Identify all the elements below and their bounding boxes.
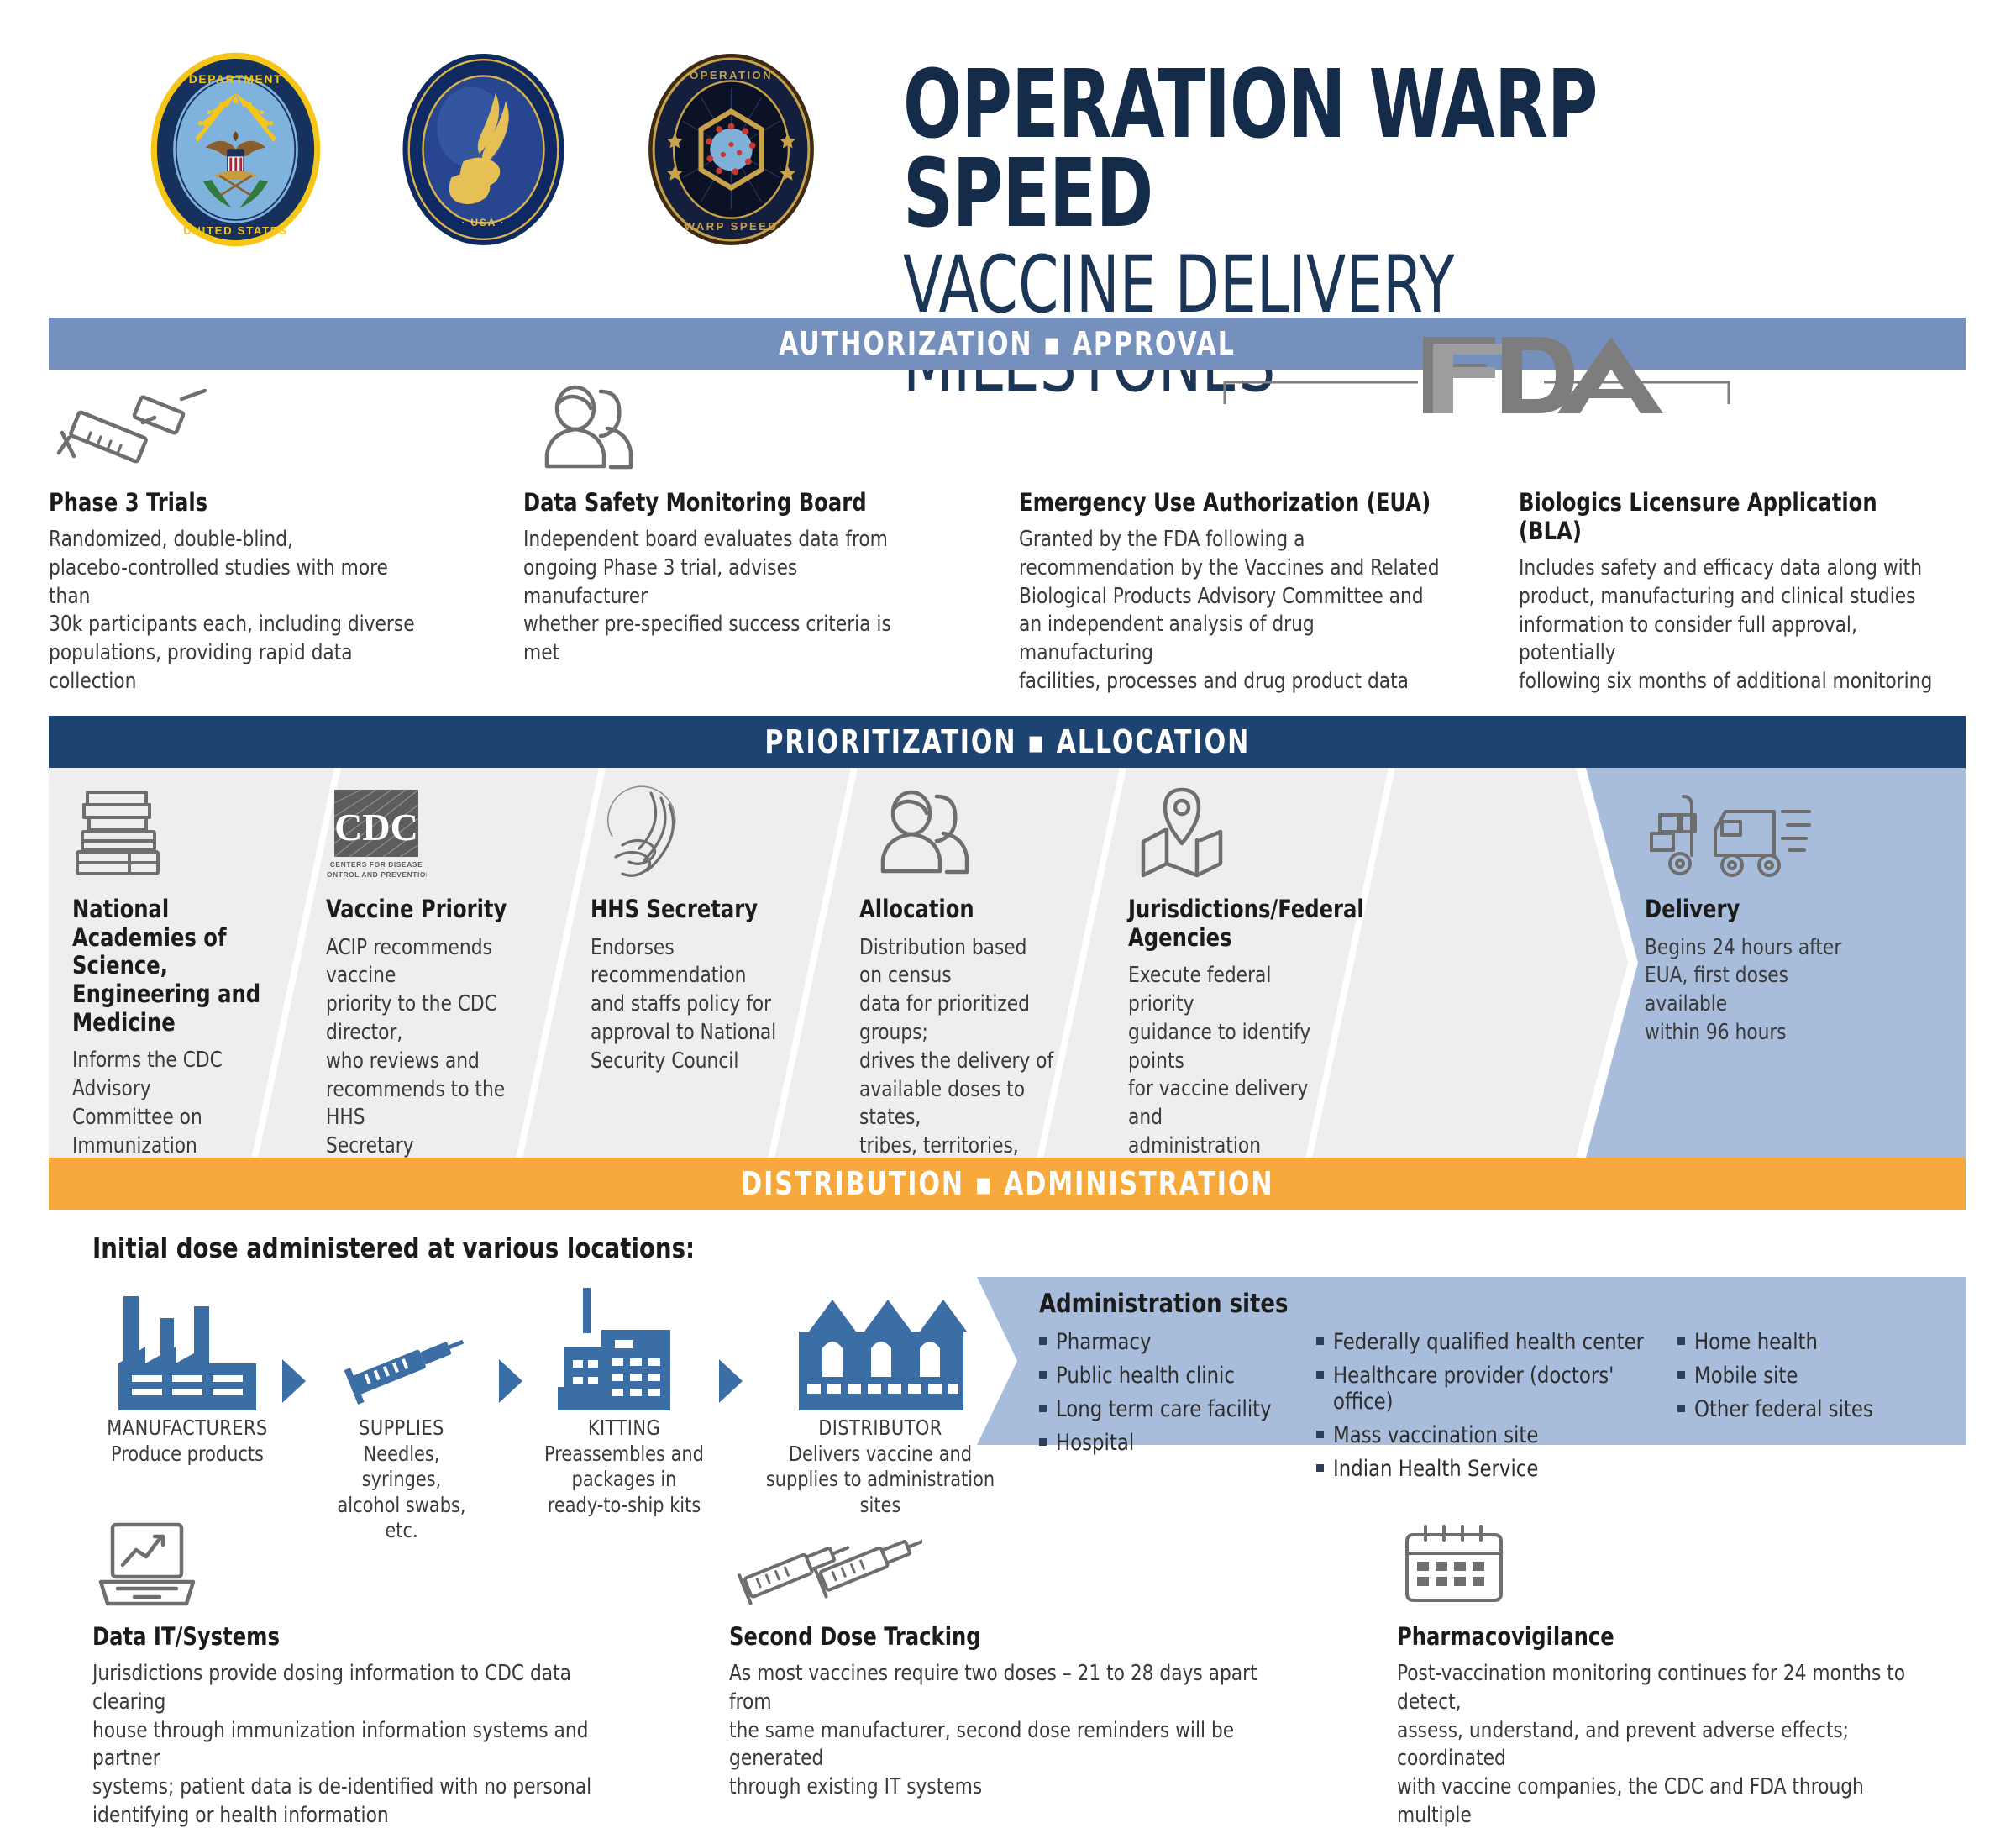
ows-seal: OPERATION WARP SPEED [620,49,843,250]
chain-caption: KITTINGPreassembles andpackages inready-… [542,1416,706,1518]
bottom-body: As most vaccines require two doses – 21 … [729,1660,1299,1802]
bottom-section: Data IT/Systems Jurisdictions provide do… [49,1516,1966,1810]
bullet-icon [1677,1405,1685,1412]
banner-distribution: DISTRIBUTION ▪ ADMINISTRATION [49,1158,1966,1210]
banner-distribution-label: DISTRIBUTION ▪ ADMINISTRATION [741,1165,1273,1202]
auth-body: Independent board evaluates data fromong… [523,526,921,668]
bullet-icon [1316,1431,1324,1438]
bullet-icon [1039,1438,1047,1446]
admin-site-item: Public health clinic [1039,1363,1316,1389]
syringe-icon [318,1280,486,1410]
admin-site-label: Healthcare provider (doctors' office) [1333,1363,1656,1415]
admin-site-item: Federally qualified health center [1316,1329,1677,1355]
admin-site-label: Mobile site [1694,1363,1798,1389]
admin-site-label: Federally qualified health center [1333,1329,1644,1355]
chevron-title: Allocation [859,896,1055,924]
chain-arrow-icon [494,1358,528,1409]
distribution-heading: Initial dose administered at various loc… [92,1232,695,1264]
svg-text:CENTERS FOR DISEASE: CENTERS FOR DISEASE [330,860,423,869]
chevron-item-vaccine-priority: CDC CENTERS FOR DISEASE CONTROL AND PREV… [326,783,536,1158]
two-people-icon [859,783,1069,884]
admin-site-label: Hospital [1056,1430,1134,1456]
chain-arrow-icon [714,1358,748,1409]
auth-title: Data Safety Monitoring Board [523,488,921,517]
admin-col-2: Federally qualified health centerHealthc… [1316,1329,1677,1489]
svg-text:WARP SPEED: WARP SPEED [685,220,779,233]
factory-icon [91,1280,284,1410]
bullet-icon [1039,1337,1047,1345]
svg-text:DEPARTMENT: DEPARTMENT [189,73,283,86]
auth-body: Randomized, double-blind,placebo-control… [49,526,423,696]
title-main: OPERATION WARP SPEED [903,60,1816,239]
bottom-item-second-dose: Second Dose Tracking As most vaccines re… [729,1516,1342,1802]
hhs-logo-icon [591,783,801,884]
svg-text:UNITED STATES: UNITED STATES [183,224,288,237]
banner-authorization-label: AUTHORIZATION ▪ APPROVAL [779,325,1236,362]
bottom-body: Post-vaccination monitoring continues fo… [1397,1660,1944,1828]
books-icon [72,783,282,884]
bullet-icon [1316,1337,1324,1345]
svg-text:OPERATION: OPERATION [690,69,773,81]
hhs-seal: · USA · [372,49,595,250]
chain-caption: DISTRIBUTORDelivers vaccine andsupplies … [764,1416,998,1518]
chevron-body: Informs the CDC AdvisoryCommittee on Imm… [72,1047,268,1158]
chain-name: DISTRIBUTOR [764,1416,998,1442]
admin-site-label: Indian Health Service [1333,1456,1538,1482]
chevron-title: HHS Secretary [591,896,786,924]
auth-title: Emergency Use Authorization (EUA) [1019,488,1441,517]
chain-caption: MANUFACTURERSProduce products [97,1416,277,1467]
laptop-chart-icon [92,1516,680,1610]
administration-sites-panel: Administration sites PharmacyPublic heal… [977,1277,1966,1445]
two-syringes-icon [729,1516,1342,1610]
auth-body: Includes safety and efficacy data along … [1519,554,1945,696]
admin-site-label: Public health clinic [1056,1363,1235,1389]
chevron-item-allocation: Allocation Distribution based on censusd… [859,783,1069,1158]
chain-arrow-icon [277,1358,311,1409]
admin-site-item: Mass vaccination site [1316,1422,1677,1448]
auth-item-dsmb: Data Safety Monitoring Board Independent… [523,382,952,668]
admin-site-label: Home health [1694,1329,1818,1355]
map-pin-icon [1128,783,1338,884]
bottom-title: Second Dose Tracking [729,1622,1299,1651]
chevron-item-nasem: National Academies ofScience, Engineerin… [72,783,282,1158]
chain-desc: Delivers vaccine andsupplies to administ… [766,1442,995,1517]
admin-site-item: Mobile site [1677,1363,1929,1389]
admin-sites-columns: PharmacyPublic health clinicLong term ca… [1039,1329,1929,1489]
bottom-title: Pharmacovigilance [1397,1622,1944,1651]
syringe-icon [49,382,452,473]
banner-prioritization-label: PRIORITIZATION ▪ ALLOCATION [764,723,1250,760]
bullet-icon [1316,1371,1324,1379]
chain-desc: Produce products [111,1442,264,1466]
admin-site-label: Pharmacy [1056,1329,1151,1355]
chain-node-kitting: KITTINGPreassembles andpackages inready-… [536,1280,712,1518]
chevron-body: Distribution based on censusdata for pri… [859,934,1055,1158]
bullet-icon [1677,1371,1685,1379]
chevron-title: National Academies ofScience, Engineerin… [72,896,268,1037]
chain-node-distributor: DISTRIBUTORDelivers vaccine andsupplies … [754,1280,1006,1518]
prioritization-section: National Academies ofScience, Engineerin… [49,768,1966,1158]
admin-site-label: Other federal sites [1694,1396,1873,1422]
admin-site-item: Hospital [1039,1430,1316,1456]
svg-text:CONTROL AND PREVENTION: CONTROL AND PREVENTION [326,870,427,879]
bullet-icon [1677,1337,1685,1345]
admin-col-1: PharmacyPublic health clinicLong term ca… [1039,1329,1316,1489]
agency-seals: DEPARTMENT UNITED STATES [124,49,843,250]
bottom-item-data-it: Data IT/Systems Jurisdictions provide do… [92,1516,680,1828]
chevron-title: Delivery [1645,896,1848,924]
supply-chain: MANUFACTURERSProduce products [91,1280,1006,1490]
auth-title: Phase 3 Trials [49,488,423,517]
chain-name: KITTING [542,1416,706,1442]
svg-text:CDC: CDC [334,806,418,848]
admin-col-3: Home healthMobile siteOther federal site… [1677,1329,1929,1489]
page-header: DEPARTMENT UNITED STATES [0,0,2016,294]
auth-title: Biologics Licensure Application (BLA) [1519,488,1945,545]
admin-site-item: Pharmacy [1039,1329,1316,1355]
bullet-icon [1039,1405,1047,1412]
chevron-item-hhs-secretary: HHS Secretary Endorses recommendationand… [591,783,801,1076]
admin-site-item: Long term care facility [1039,1396,1316,1422]
dod-seal: DEPARTMENT UNITED STATES [124,49,347,250]
chevron-title: Vaccine Priority [326,896,522,924]
chain-node-supplies: SUPPLIESNeedles, syringes,alcohol swabs,… [318,1280,486,1544]
bullet-icon [1039,1371,1047,1379]
warehouse-icon [754,1280,1006,1410]
admin-sites-title: Administration sites [1039,1289,1288,1319]
bottom-body: Jurisdictions provide dosing information… [92,1660,639,1828]
auth-body: Granted by the FDA following arecommenda… [1019,526,1441,696]
delivery-truck-icon [1645,783,1863,884]
auth-item-phase3: Phase 3 Trials Randomized, double-blind,… [49,382,452,696]
admin-site-item: Indian Health Service [1316,1456,1677,1482]
chain-name: SUPPLIES [323,1416,480,1442]
distribution-section: Initial dose administered at various loc… [49,1220,1966,1497]
chain-name: MANUFACTURERS [97,1416,277,1442]
banner-prioritization: PRIORITIZATION ▪ ALLOCATION [49,716,1966,768]
svg-text:· USA ·: · USA · [461,217,505,228]
calendar-icon [1397,1516,1985,1610]
building-icon [536,1280,712,1410]
chevron-body: Endorses recommendationand staffs policy… [591,934,786,1076]
admin-site-item: Healthcare provider (doctors' office) [1316,1363,1677,1415]
bottom-item-pharmacovigilance: Pharmacovigilance Post-vaccination monit… [1397,1516,1985,1828]
fda-logo-icon [1216,332,1737,433]
bullet-icon [1316,1464,1324,1472]
two-people-icon [523,382,952,473]
admin-site-label: Long term care facility [1056,1396,1272,1422]
admin-site-item: Other federal sites [1677,1396,1929,1422]
chevron-title: Jurisdictions/FederalAgencies [1128,896,1324,952]
chevron-item-delivery: Delivery Begins 24 hours afterEUA, first… [1645,783,1863,1048]
chevron-body: Begins 24 hours afterEUA, first doses av… [1645,934,1848,1048]
bottom-title: Data IT/Systems [92,1622,639,1651]
chevron-body: ACIP recommends vaccinepriority to the C… [326,934,522,1158]
chain-node-manufacturers: MANUFACTURERSProduce products [91,1280,284,1467]
authorization-section: Phase 3 Trials Randomized, double-blind,… [49,382,1966,701]
chevron-body: Execute federal priorityguidance to iden… [1128,962,1324,1158]
chevron-item-jurisdictions: Jurisdictions/FederalAgencies Execute fe… [1128,783,1338,1158]
infographic-page: DEPARTMENT UNITED STATES [0,0,2016,1828]
chain-desc: Preassembles andpackages inready-to-ship… [544,1442,704,1517]
admin-site-item: Home health [1677,1329,1929,1355]
admin-site-label: Mass vaccination site [1333,1422,1538,1448]
cdc-logo-icon: CDC CENTERS FOR DISEASE CONTROL AND PREV… [326,783,536,884]
